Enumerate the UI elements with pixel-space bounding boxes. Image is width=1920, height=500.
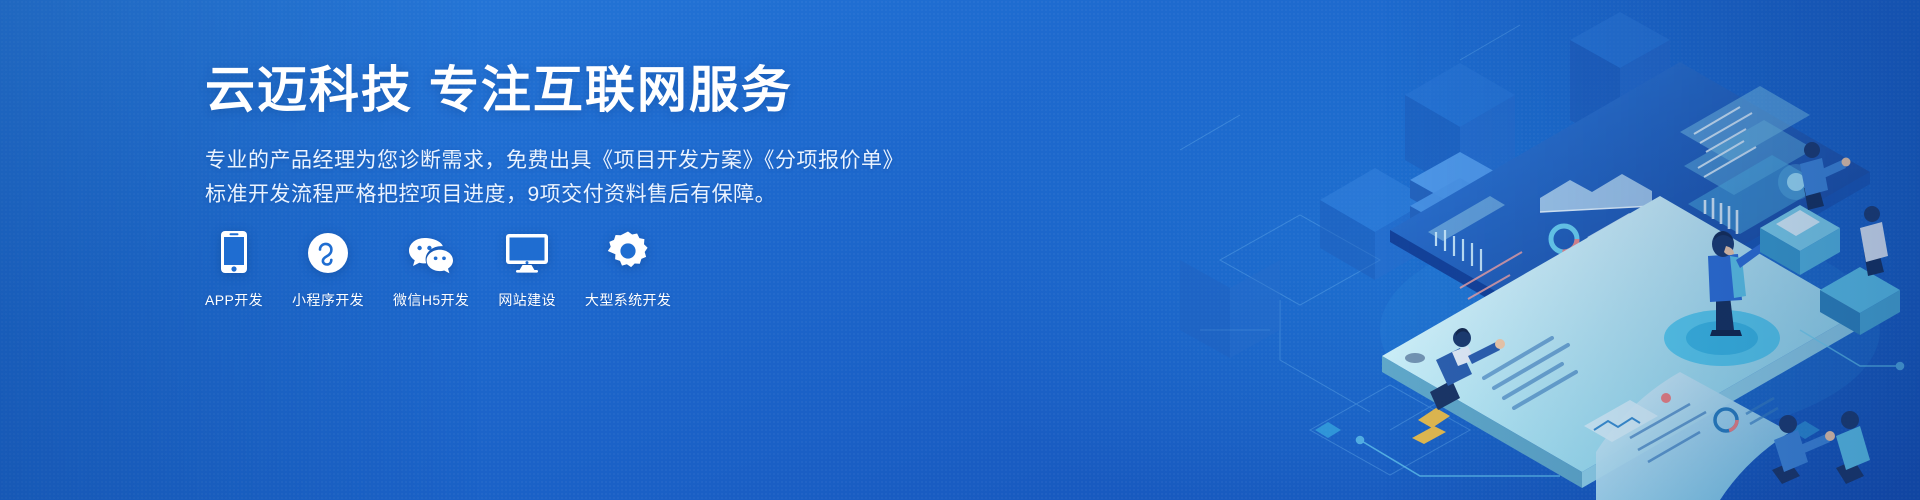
service-item-mini-program[interactable]: 小程序开发 <box>292 228 364 310</box>
isometric-dashboard-illustration <box>1160 0 1920 500</box>
banner-content: 云迈科技 专注互联网服务 专业的产品经理为您诊断需求，免费出具《项目开发方案》《… <box>205 62 925 212</box>
service-item-large-system[interactable]: 大型系统开发 <box>585 228 671 310</box>
gear-icon <box>606 228 650 274</box>
service-label: 网站建设 <box>498 290 556 310</box>
promo-banner: 云迈科技 专注互联网服务 专业的产品经理为您诊断需求，免费出具《项目开发方案》《… <box>0 0 1920 500</box>
mini-program-icon <box>307 228 349 274</box>
service-item-website[interactable]: 网站建设 <box>498 228 556 310</box>
service-label: 微信H5开发 <box>393 290 469 310</box>
page-title: 云迈科技 专注互联网服务 <box>205 62 925 118</box>
subtitle-line-2: 标准开发流程严格把控项目进度，9项交付资料售后有保障。 <box>205 178 925 212</box>
monitor-icon <box>504 228 550 274</box>
service-item-app[interactable]: APP开发 <box>205 228 263 310</box>
subtitle-line-1: 专业的产品经理为您诊断需求，免费出具《项目开发方案》《分项报价单》 <box>205 144 925 178</box>
service-label: APP开发 <box>205 290 263 310</box>
service-list: APP开发 小程序开发 微信 <box>205 228 671 310</box>
banner-subtitle: 专业的产品经理为您诊断需求，免费出具《项目开发方案》《分项报价单》 标准开发流程… <box>205 144 925 212</box>
service-label: 小程序开发 <box>292 290 364 310</box>
mobile-phone-icon <box>219 228 249 274</box>
wechat-icon <box>406 228 456 274</box>
service-label: 大型系统开发 <box>585 290 671 310</box>
service-item-wechat-h5[interactable]: 微信H5开发 <box>393 228 469 310</box>
